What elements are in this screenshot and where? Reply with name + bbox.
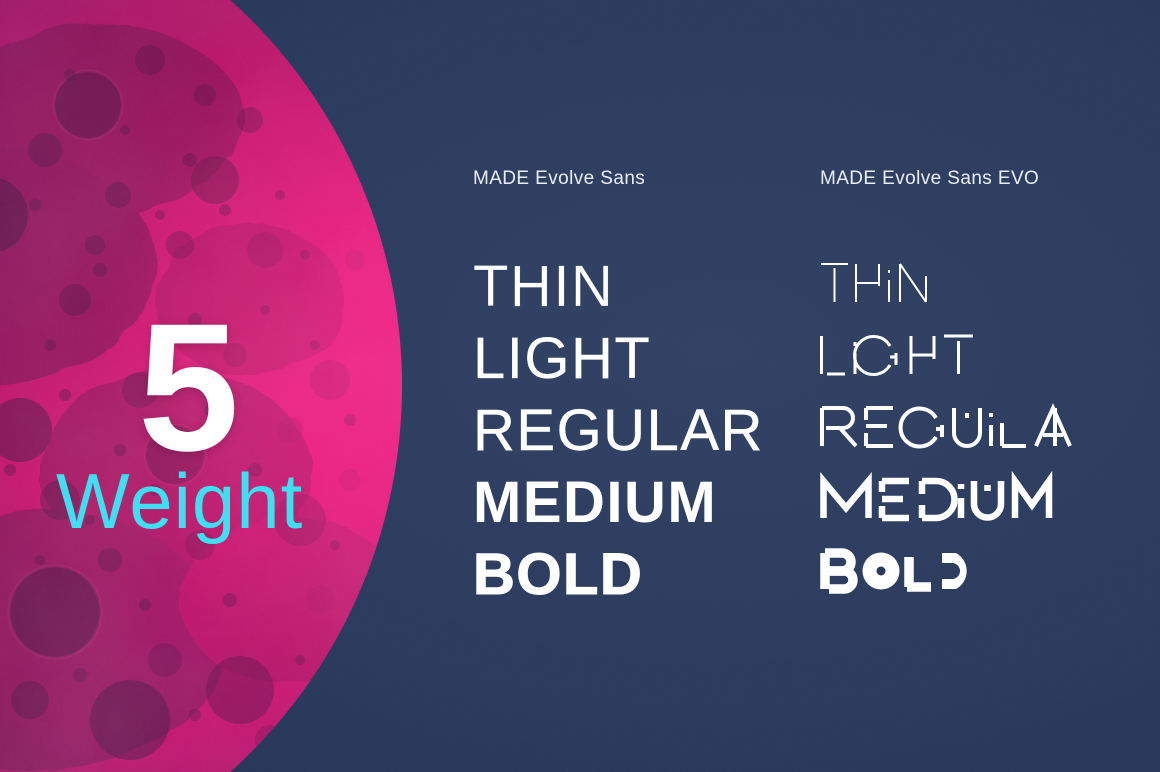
weight-row-thin: THIN bbox=[473, 247, 764, 319]
evo-glyphs-regular bbox=[820, 405, 1092, 449]
specimen-columns: MADE Evolve Sans THIN LIGHT REGULAR MEDI… bbox=[0, 0, 1160, 772]
evo-weight-label-medium: MEDIUM bbox=[820, 463, 821, 464]
evo-o-disc bbox=[863, 552, 900, 589]
weight-label-thin: THIN bbox=[473, 258, 614, 316]
evo-weight-row-light: LIGHT bbox=[820, 319, 1092, 391]
evo-weight-label-bold: BOLD bbox=[820, 535, 821, 536]
weight-label-light: LIGHT bbox=[473, 330, 651, 388]
weight-row-bold: BOLD bbox=[473, 535, 764, 607]
evo-weight-label-regular: REGULAR bbox=[820, 391, 821, 392]
weight-list-evo: THIN bbox=[820, 247, 1092, 607]
evo-glyphs-medium bbox=[820, 477, 1060, 521]
weight-row-light: LIGHT bbox=[473, 319, 764, 391]
evo-weight-row-regular: REGULAR bbox=[820, 391, 1092, 463]
evo-glyphs-bold bbox=[820, 548, 988, 594]
weight-row-medium: MEDIUM bbox=[473, 463, 764, 535]
weight-list-sans: THIN LIGHT REGULAR MEDIUM BOLD bbox=[473, 247, 764, 607]
evo-weight-row-bold: BOLD bbox=[820, 535, 1092, 607]
evo-weight-row-thin: THIN bbox=[820, 247, 1092, 319]
evo-weight-label-light: LIGHT bbox=[820, 319, 821, 320]
weight-label-regular: REGULAR bbox=[473, 402, 764, 460]
weight-row-regular: REGULAR bbox=[473, 391, 764, 463]
evo-weight-label-thin: THIN bbox=[820, 247, 821, 248]
evo-weight-row-medium: MEDIUM bbox=[820, 463, 1092, 535]
column-title-evo: MADE Evolve Sans EVO bbox=[820, 168, 1039, 190]
poster-canvas: 5 Weight MADE Evolve Sans THIN LIGHT REG… bbox=[0, 0, 1160, 772]
column-title-sans: MADE Evolve Sans bbox=[473, 168, 645, 190]
weight-label-bold: BOLD bbox=[473, 546, 643, 604]
evo-glyphs-thin bbox=[820, 261, 970, 305]
weight-label-medium: MEDIUM bbox=[473, 474, 717, 532]
evo-glyphs-light bbox=[820, 333, 996, 377]
